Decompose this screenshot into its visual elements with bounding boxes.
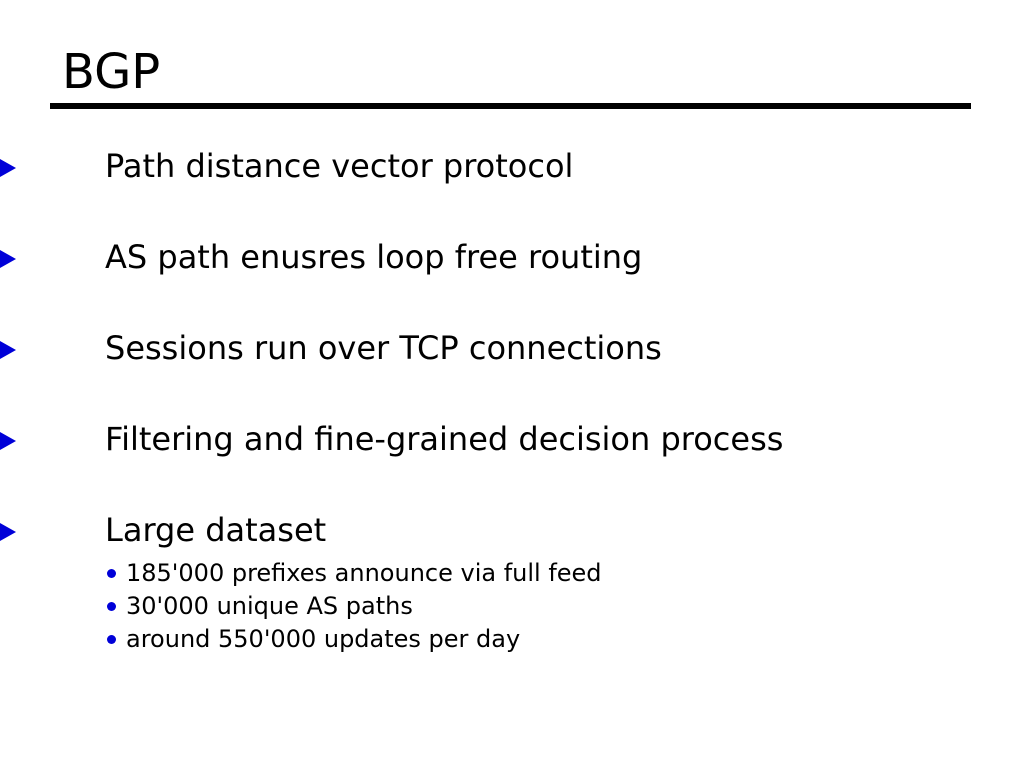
list-item-label: Filtering and fine-grained decision proc…: [77, 421, 1024, 457]
round-dot-icon: [107, 602, 116, 611]
triangle-right-icon: [0, 432, 16, 450]
sub-list-item-label: 30'000 unique AS paths: [107, 591, 1024, 621]
list-item: Filtering and fine-grained decision proc…: [0, 421, 1024, 512]
list-item-label: Sessions run over TCP connections: [77, 330, 1024, 366]
sub-list-item: around 550'000 updates per day: [107, 624, 1024, 657]
title-underline-rule: [50, 103, 971, 109]
round-dot-icon: [107, 635, 116, 644]
page-title: BGP: [50, 48, 971, 96]
sub-bullet-list: 185'000 prefixes announce via full feed …: [0, 558, 1024, 657]
triangle-right-icon: [0, 250, 16, 268]
sub-list-item: 185'000 prefixes announce via full feed: [107, 558, 1024, 591]
triangle-right-icon: [0, 523, 16, 541]
list-item-label: AS path enusres loop free routing: [77, 239, 1024, 275]
slide-body: Path distance vector protocol AS path en…: [0, 148, 1024, 657]
triangle-right-icon: [0, 159, 16, 177]
list-item: Large dataset: [0, 512, 1024, 560]
round-dot-icon: [107, 569, 116, 578]
sub-list-item-label: 185'000 prefixes announce via full feed: [107, 558, 1024, 588]
list-item: Sessions run over TCP connections: [0, 330, 1024, 421]
list-item: Path distance vector protocol: [0, 148, 1024, 239]
bullet-list: Path distance vector protocol AS path en…: [0, 148, 1024, 657]
list-item-label: Large dataset: [77, 512, 1024, 548]
sub-list-item-label: around 550'000 updates per day: [107, 624, 1024, 654]
list-item-label: Path distance vector protocol: [77, 148, 1024, 184]
slide-title-block: BGP: [50, 48, 971, 109]
presentation-slide: BGP Path distance vector protocol AS pat…: [0, 0, 1024, 768]
list-item: AS path enusres loop free routing: [0, 239, 1024, 330]
triangle-right-icon: [0, 341, 16, 359]
sub-list-item: 30'000 unique AS paths: [107, 591, 1024, 624]
